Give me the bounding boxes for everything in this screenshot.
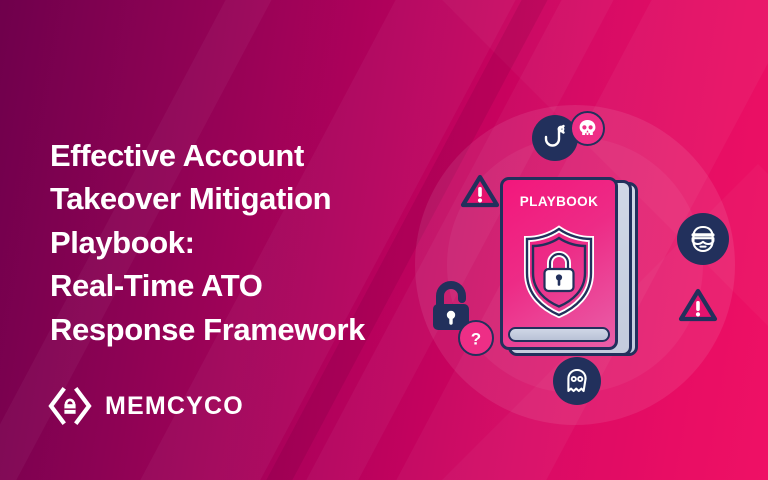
- warning-triangle-icon: [678, 287, 718, 323]
- skull-icon: [570, 111, 605, 146]
- ghost-icon: [553, 357, 601, 405]
- masked-thief-icon: [677, 213, 729, 265]
- playbook-illustration: ?: [400, 95, 750, 440]
- marketing-banner: Effective Account Takeover Mitigation Pl…: [0, 0, 768, 480]
- shield-lock-icon: [517, 224, 601, 320]
- book-cover: PLAYBOOK: [500, 177, 618, 350]
- diamond-lock-icon: [48, 386, 92, 426]
- warning-triangle-icon: [460, 173, 500, 209]
- brand-name: MEMCYCO: [105, 392, 244, 421]
- book-cover-title: PLAYBOOK: [503, 194, 615, 209]
- svg-text:?: ?: [471, 330, 481, 349]
- playbook-book: PLAYBOOK: [500, 177, 632, 352]
- brand-logo: MEMCYCO: [48, 386, 244, 426]
- book-spine-strip: [508, 327, 610, 342]
- question-mark-icon: ?: [458, 320, 494, 356]
